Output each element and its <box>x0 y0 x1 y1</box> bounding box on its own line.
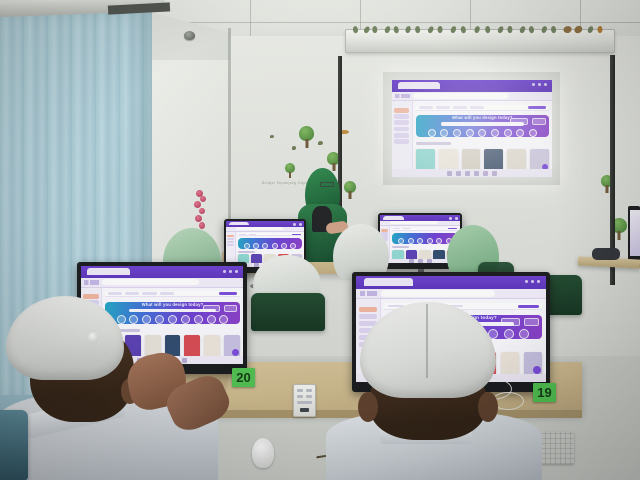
student-front-left <box>0 296 215 480</box>
canva-hero-banner: What will you design today? <box>416 115 549 137</box>
security-camera-icon <box>184 31 195 40</box>
canva-search-input[interactable] <box>441 122 523 126</box>
cap-emblem-icon <box>88 332 99 343</box>
category-item[interactable] <box>501 129 514 137</box>
classroom-photo: Belajar Sepanjang Hayat <box>0 0 640 480</box>
browser-address-bar[interactable] <box>81 278 243 288</box>
monitor-far-right-screen <box>630 210 640 256</box>
projector-screen-housing <box>345 29 615 53</box>
browser-nav-icons[interactable] <box>360 291 377 296</box>
bird-sticker <box>270 135 274 138</box>
ear <box>358 392 378 422</box>
category-item[interactable] <box>489 129 502 137</box>
browser-nav-icons[interactable] <box>395 94 409 99</box>
hero-button[interactable] <box>224 305 237 312</box>
tree-sticker <box>299 126 314 148</box>
category-item[interactable] <box>527 129 540 137</box>
category-item[interactable] <box>463 129 476 137</box>
category-item[interactable] <box>217 315 230 324</box>
category-item[interactable] <box>514 129 527 137</box>
remote-control[interactable] <box>293 384 316 417</box>
ear <box>478 392 498 422</box>
browser-tab[interactable] <box>364 278 413 286</box>
teacher-glasses-icon <box>320 182 334 187</box>
window-controls[interactable] <box>532 83 547 86</box>
browser-taskbar[interactable] <box>392 169 552 177</box>
create-design-button[interactable] <box>528 106 546 109</box>
projected-canva-browser: What will you design today? <box>392 80 552 177</box>
monitor-tag-20: 20 <box>232 368 255 387</box>
hero-button[interactable] <box>532 118 546 125</box>
create-design-button[interactable] <box>219 292 237 295</box>
browser-tab[interactable] <box>398 82 440 89</box>
student-mid-center <box>253 255 321 325</box>
bag-on-shelf <box>592 248 620 260</box>
window-controls[interactable] <box>223 270 238 273</box>
bird-sticker <box>292 146 296 150</box>
bird-sticker <box>318 141 323 145</box>
window-controls[interactable] <box>525 280 540 283</box>
browser-address-bar[interactable] <box>356 289 546 300</box>
browser-chrome <box>81 266 243 278</box>
student-front-right <box>334 300 534 480</box>
kopiah-cap <box>6 296 124 380</box>
category-item[interactable] <box>476 129 489 137</box>
url-input[interactable] <box>413 93 509 99</box>
url-input[interactable] <box>102 279 199 285</box>
chair <box>0 410 28 480</box>
category-item[interactable] <box>425 129 438 137</box>
canva-sidebar[interactable] <box>392 101 413 177</box>
browser-address-bar[interactable] <box>392 92 552 102</box>
category-item[interactable] <box>451 129 464 137</box>
monitor-tag-19: 19 <box>533 383 556 402</box>
section-title <box>416 142 451 145</box>
browser-chrome <box>356 276 546 289</box>
browser-nav-icons[interactable] <box>84 280 99 285</box>
chair <box>251 293 325 331</box>
browser-chrome <box>392 80 552 92</box>
canva-top-nav[interactable] <box>416 105 549 112</box>
cap-crease <box>426 304 428 378</box>
category-item[interactable] <box>438 129 451 137</box>
hero-heading: What will you design today? <box>452 115 512 120</box>
tree-sticker <box>285 163 295 178</box>
canva-category-row[interactable] <box>425 129 539 137</box>
mouse[interactable] <box>252 438 274 468</box>
url-input[interactable] <box>381 290 495 297</box>
kopiah-cap <box>360 302 496 398</box>
browser-tab[interactable] <box>87 268 129 275</box>
